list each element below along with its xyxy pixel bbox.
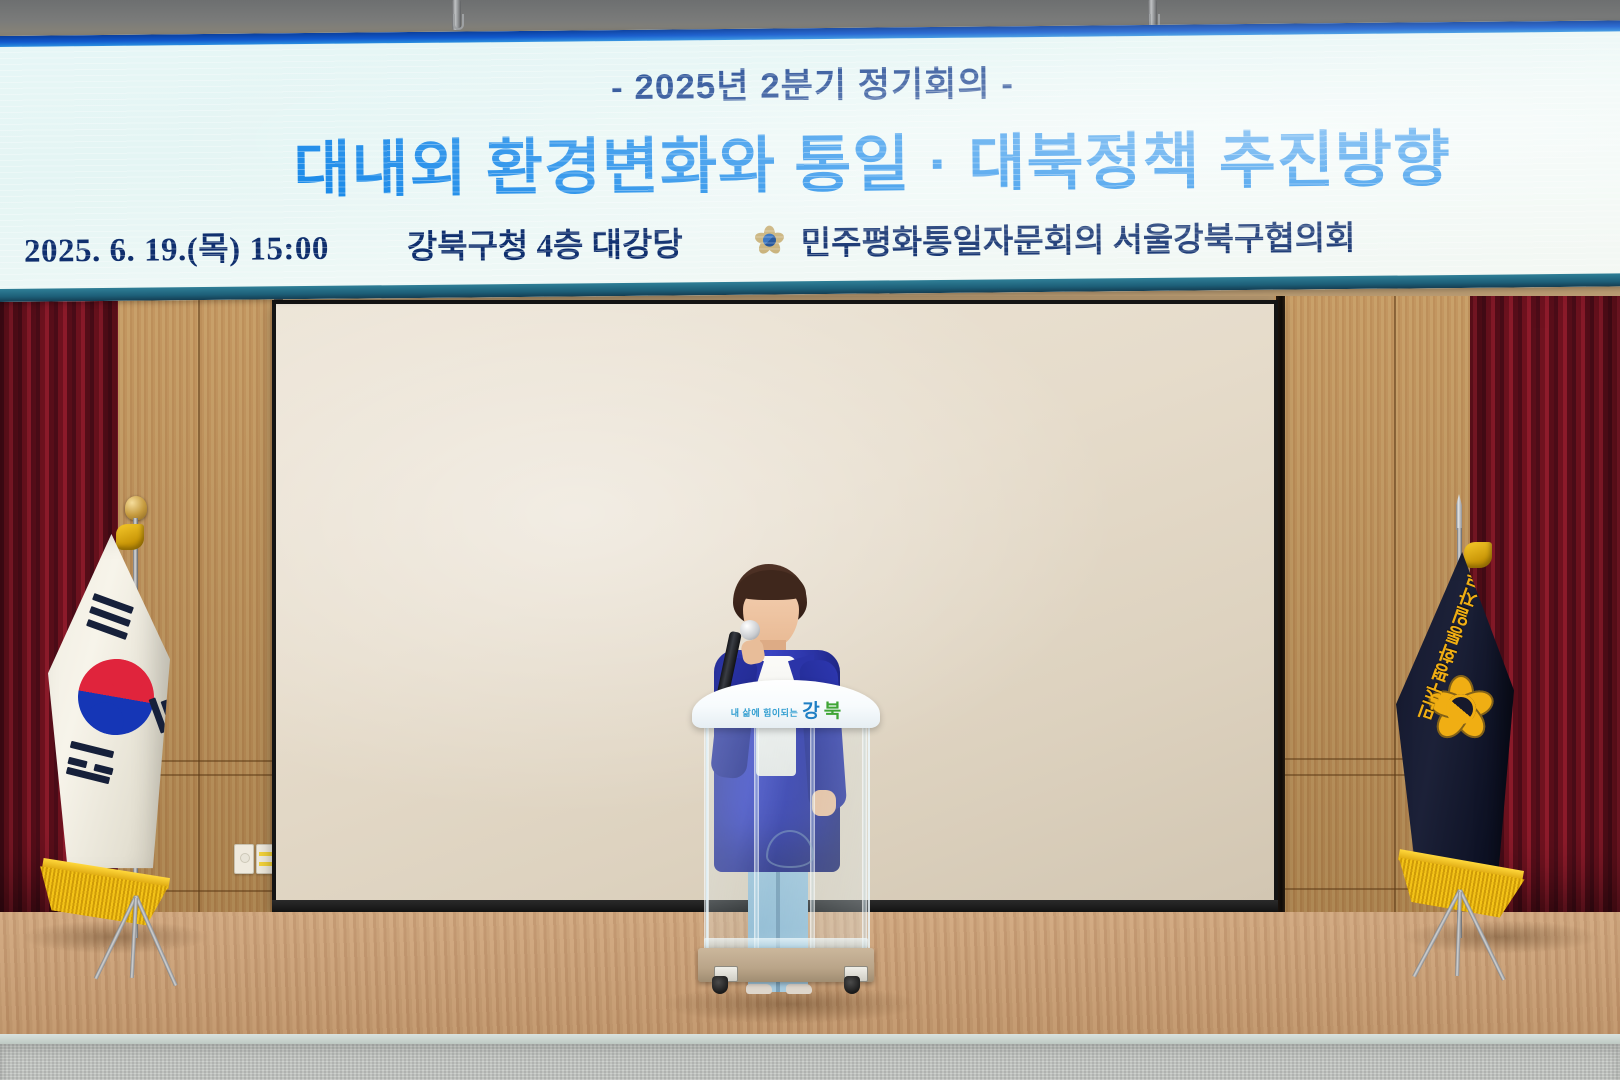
event-banner: - 2025년 2분기 정기회의 - 대내외 환경변화와 통일 · 대북정책 추… [0,20,1620,302]
flag-tassel-right [1464,542,1492,568]
banner-emblem-icon [755,225,785,255]
flag-finial-left [125,496,147,520]
microphone-head[interactable] [740,620,760,640]
banner-title: 대내외 환경변화와 통일 · 대북정책 추진방향 [293,108,1451,209]
podium-rib [862,726,867,958]
banner-meeting-line: - 2025년 2분기 정기회의 - [611,55,1014,110]
podium-shelf [704,938,868,948]
stage-photo: 민주평화통일자문회의 [0,0,1620,1080]
podium-caster-left [712,976,728,994]
podium-caster-right [844,976,860,994]
stage-front-panel [0,1044,1620,1080]
flag-finial-right [1456,494,1462,530]
banner-info-line: 2025. 6. 19.(목) 15:00 강북구청 4층 대강당 민주평화통일… [0,208,1620,272]
trigram-bar [70,741,114,758]
banner-content: - 2025년 2분기 정기회의 - 대내외 환경변화와 통일 · 대북정책 추… [0,31,1620,289]
podium-logo-buk: 북 [824,702,841,721]
room-interior: 민주평화통일자문회의 [0,296,1620,1080]
banner-venue: 강북구청 4층 대강당 [407,217,683,268]
podium-rib [704,726,709,958]
podium-header-sign: 내 삶에 힘이되는 강 북 [692,680,880,728]
korean-national-flag [48,534,170,882]
podium-rib [754,726,759,958]
podium-slogan-text: 내 삶에 힘이되는 [731,706,798,721]
flag-stand-right: 민주평화통일자문회의 [1404,494,1614,964]
flag-stand-left [20,496,220,956]
banner-hanger-left [452,0,461,30]
organization-flag: 민주평화통일자문회의 [1396,552,1514,898]
banner-organization: 민주평화통일자문회의 서울강북구협의회 [800,210,1355,263]
podium-sign-label: 내 삶에 힘이되는 강 북 [692,702,880,721]
podium-rib [810,726,815,958]
podium-logo-gang: 강 [802,702,819,721]
flag-tassel-left [116,524,144,550]
trigram-bar [67,757,87,768]
taeguk-symbol [67,648,164,745]
wall-plate-blank [234,844,254,874]
acrylic-podium: 내 삶에 힘이되는 강 북 [692,680,880,1000]
banner-datetime: 2025. 6. 19.(목) 15:00 [24,220,329,271]
